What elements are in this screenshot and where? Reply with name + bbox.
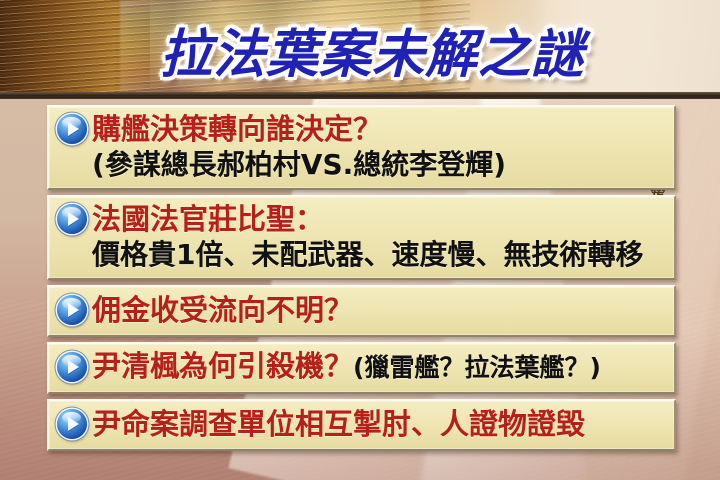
play-circle-icon — [57, 204, 87, 234]
list-item: 佣金收受流向不明？ — [47, 285, 676, 337]
list-item-sub-text: (參謀總長郝柏村VS.總統李登輝) — [55, 147, 668, 183]
list-item-main-text: 購艦決策轉向誰決定？ — [92, 111, 382, 147]
list-item-main-row: 尹清楓為何引殺機？(獵雷艦？拉法葉艦？) — [55, 347, 668, 387]
header-divider-band — [0, 92, 720, 99]
list-item-main-label: 尹清楓為何引殺機？ — [92, 349, 353, 383]
list-item-main-text: 尹命案調查單位相互掣肘、人證物證毀 — [92, 406, 585, 442]
header-banner: 拉法葉案未解之謎 — [0, 0, 720, 99]
broadcast-graphic-stage: 拉法葉案未解之謎 有 話 好 説 整 理 購艦決策轉向誰決定？ (參謀總長郝柏村… — [0, 0, 720, 480]
play-circle-icon — [57, 114, 87, 144]
list-item-main-text: 尹清楓為何引殺機？(獵雷艦？拉法葉艦？) — [92, 348, 601, 386]
list-item-main-row: 購艦決策轉向誰決定？ — [55, 110, 668, 148]
play-circle-icon — [57, 295, 87, 325]
list-item-main-text: 佣金收受流向不明？ — [92, 292, 353, 328]
list-item-main-row: 尹命案調查單位相互掣肘、人證物證毀 — [55, 404, 668, 444]
play-circle-icon — [57, 409, 87, 439]
list-item-main-text: 法國法官莊比聖： — [92, 201, 324, 237]
list-item-sub-text: 價格貴1倍、未配武器、速度慢、無技術轉移 — [55, 237, 668, 273]
bullet-list: 購艦決策轉向誰決定？ (參謀總長郝柏村VS.總統李登輝) 法國法官莊比聖： 價格… — [47, 105, 676, 456]
list-item: 購艦決策轉向誰決定？ (參謀總長郝柏村VS.總統李登輝) — [47, 105, 676, 190]
list-item: 法國法官莊比聖： 價格貴1倍、未配武器、速度慢、無技術轉移 — [47, 195, 676, 280]
list-item-main-row: 佣金收受流向不明？ — [55, 290, 668, 330]
list-item: 尹命案調查單位相互掣肘、人證物證毀 — [47, 399, 676, 451]
list-item: 尹清楓為何引殺機？(獵雷艦？拉法葉艦？) — [47, 342, 676, 394]
page-title: 拉法葉案未解之謎 — [0, 25, 720, 85]
list-item-main-row: 法國法官莊比聖： — [55, 200, 668, 238]
play-circle-icon — [57, 352, 87, 382]
list-item-inline-note: (獵雷艦？拉法葉艦？) — [353, 353, 601, 382]
